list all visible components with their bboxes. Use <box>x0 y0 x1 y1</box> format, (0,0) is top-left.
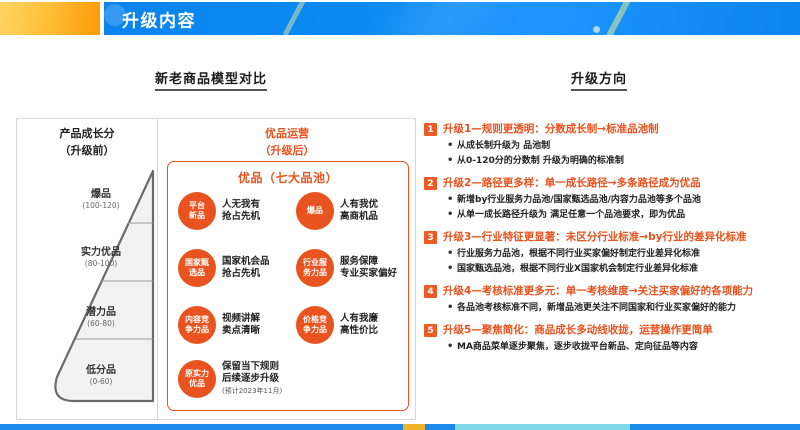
upgrade-item: 5 升级5—聚焦简化：商品成长多动线收拢，运营操作更简单 MA商品菜单逐步聚焦，… <box>424 323 790 355</box>
pyramid-tier-range: (80-100) <box>45 259 157 269</box>
pyramid-tier: 低分品 (0-60) <box>45 365 157 387</box>
pool-bubble-line1: 价格竞 <box>303 315 327 325</box>
section-title-right: 升级方向 <box>571 68 627 91</box>
pool-bubble: 原实力 优品 <box>178 360 216 398</box>
header-title: 升级内容 <box>122 6 196 31</box>
upgrade-item: 3 升级3—行业特征更显著：未区分行业标准→by行业的差异化标准 行业服务力品池… <box>424 230 790 277</box>
upgrade-bullet: MA商品菜单逐步聚焦，逐步收拢平台新品、定向征品等内容 <box>445 340 790 355</box>
pool-item-text-line1: 人有我优 <box>340 199 378 211</box>
header-stripe-decoration-1 <box>282 2 306 35</box>
pool-bubble: 内容竞 争力品 <box>178 306 216 344</box>
upgrade-number-badge: 2 <box>424 177 437 190</box>
comparison-diagram-card: 产品成长分 （升级前） 优品运营 （升级后） 爆品 (100-120) 实力优品… <box>16 118 416 420</box>
upgrade-item-header: 1 升级1—规则更透明：分数成长制→标准品池制 <box>424 122 790 136</box>
pool-item-text-line2: 高商机品 <box>340 211 378 223</box>
upgrade-title: 升级5—聚焦简化：商品成长多动线收拢，运营操作更简单 <box>443 323 713 337</box>
pool-bubble-line1: 内容竞 <box>185 315 209 325</box>
upgrade-bullet: 从单一成长路径升级为 满足任意一个品池要求，即为优品 <box>445 208 790 223</box>
pyramid-tier: 实力优品 (80-100) <box>45 247 157 269</box>
pyramid-tier-name: 爆品 <box>45 189 157 201</box>
upgrade-item-header: 3 升级3—行业特征更显著：未区分行业标准→by行业的差异化标准 <box>424 230 790 244</box>
pool-bubble-line2: 争力品 <box>303 325 327 335</box>
upgrade-bullet: 各品池考核标准不同，新增品池更关注不同国家和行业买家偏好的能力 <box>445 301 790 316</box>
pool-bubble-line2: 新品 <box>189 211 205 221</box>
pool-bubble-line2: 选品 <box>189 268 205 278</box>
pool-item-text: 人有我廉 高性价比 <box>340 313 378 337</box>
pool-item-text-note: (预计2023年11月) <box>222 385 282 397</box>
upgrade-bullet: 行业服务力品池，根据不同行业买家偏好制定行业差异化标准 <box>445 247 790 262</box>
upgrade-bullets: 从成长制升级为 品池制 从0-120分的分数制 升级为明确的标准制 <box>445 139 790 169</box>
upgrade-bullet: 国家甄选品池，根据不同行业X国家机会制定行业差异化标准 <box>445 262 790 277</box>
upgrade-bullets: 各品池考核标准不同，新增品池更关注不同国家和行业买家偏好的能力 <box>445 301 790 316</box>
pool-bubble-line2: 争力品 <box>185 325 209 335</box>
growth-score-pyramid: 爆品 (100-120) 实力优品 (80-100) 潜力品 (60-80) 低… <box>20 167 157 417</box>
pool-item[interactable]: 价格竞 争力品 人有我廉 高性价比 <box>296 306 378 344</box>
upgrade-item-header: 4 升级4—考核标准更多元：单一考核维度→关注买家偏好的各项能力 <box>424 284 790 298</box>
header-dot-decoration <box>593 26 600 33</box>
pool-bubble-line1: 国家甄 <box>185 258 209 268</box>
pool-bubble-line1: 原实力 <box>185 369 209 379</box>
pool-bubble-line2: 务力品 <box>303 268 327 278</box>
upgrade-directions-list: 1 升级1—规则更透明：分数成长制→标准品池制 从成长制升级为 品池制 从0-1… <box>424 122 790 362</box>
section-title-left: 新老商品模型对比 <box>155 68 267 91</box>
pool-item-text-line1: 视频讲解 <box>222 313 260 325</box>
pool-item[interactable]: 内容竞 争力品 视频讲解 卖点清晰 <box>178 306 260 344</box>
upgrade-title: 升级4—考核标准更多元：单一考核维度→关注买家偏好的各项能力 <box>443 284 753 298</box>
pool-item-text-line1: 服务保障 <box>340 256 397 268</box>
diagram-divider <box>157 119 158 421</box>
header-blue-block: 升级内容 <box>104 2 800 35</box>
upgrade-number-badge: 1 <box>424 123 437 136</box>
pool-item-text-line2: 抢占先机 <box>222 268 270 280</box>
pool-bubble: 平台 新品 <box>178 192 216 230</box>
upgrade-item: 4 升级4—考核标准更多元：单一考核维度→关注买家偏好的各项能力 各品池考核标准… <box>424 284 790 316</box>
pool-item-text-line1: 保留当下规则 <box>222 361 282 373</box>
product-pool-grid: 平台 新品 人无我有 抢占先机 爆品 人有我优 高商机品 <box>174 192 404 404</box>
pool-bubble: 行业服 务力品 <box>296 249 334 287</box>
pool-bubble-line2: 优品 <box>189 379 205 389</box>
pool-item[interactable]: 平台 新品 人无我有 抢占先机 <box>178 192 260 230</box>
pyramid-tier: 潜力品 (60-80) <box>45 307 157 329</box>
upgrade-title: 升级3—行业特征更显著：未区分行业标准→by行业的差异化标准 <box>443 230 746 244</box>
upgrade-number-badge: 5 <box>424 324 437 337</box>
upgrade-number-badge: 4 <box>424 285 437 298</box>
header-stripe-decoration-2 <box>606 2 633 35</box>
pyramid-tier-name: 低分品 <box>45 365 157 377</box>
header-orange-block <box>0 2 100 35</box>
upgrade-item: 1 升级1—规则更透明：分数成长制→标准品池制 从成长制升级为 品池制 从0-1… <box>424 122 790 169</box>
pyramid-tier-range: (100-120) <box>45 201 157 211</box>
upgrade-title: 升级1—规则更透明：分数成长制→标准品池制 <box>443 122 659 136</box>
pool-item[interactable]: 爆品 人有我优 高商机品 <box>296 192 378 230</box>
pool-item-text-line1: 人有我廉 <box>340 313 378 325</box>
diagram-right-heading: 优品运营 （升级后） <box>157 125 417 159</box>
pool-item[interactable]: 原实力 优品 保留当下规则 后续逐步升级 (预计2023年11月) <box>178 360 282 398</box>
footer-orange-segment <box>403 424 425 430</box>
pool-item-text: 国家机会品 抢占先机 <box>222 256 270 280</box>
pool-item-text-line2: 高性价比 <box>340 325 378 337</box>
pool-bubble: 价格竞 争力品 <box>296 306 334 344</box>
upgrade-title: 升级2—路径更多样：单一成长路径→多条路径成为优品 <box>443 176 701 190</box>
header-wedge-decoration <box>365 2 523 35</box>
pool-item-text: 服务保障 专业买家偏好 <box>340 256 397 280</box>
diagram-right-heading-line1: 优品运营 <box>157 125 417 142</box>
upgrade-item: 2 升级2—路径更多样：单一成长路径→多条路径成为优品 新增by行业服务力品池/… <box>424 176 790 223</box>
diagram-left-heading-line2: （升级前） <box>17 142 157 159</box>
pyramid-tier-name: 潜力品 <box>45 307 157 319</box>
upgrade-item-header: 5 升级5—聚焦简化：商品成长多动线收拢，运营操作更简单 <box>424 323 790 337</box>
pool-item-text: 保留当下规则 后续逐步升级 (预计2023年11月) <box>222 361 282 397</box>
pool-bubble-line1: 行业服 <box>303 258 327 268</box>
pool-item-text-line2: 专业买家偏好 <box>340 268 397 280</box>
upgrade-bullets: 新增by行业服务力品池/国家甄选品池/内容力品池等多个品池 从单一成长路径升级为… <box>445 193 790 223</box>
pool-item-text-line1: 人无我有 <box>222 199 260 211</box>
pool-item-text-line2: 抢占先机 <box>222 211 260 223</box>
upgrade-number-badge: 3 <box>424 231 437 244</box>
slide-root: 升级内容 新老商品模型对比 升级方向 产品成长分 （升级前） 优品运营 （升级后… <box>0 0 800 430</box>
upgrade-bullets: 行业服务力品池，根据不同行业买家偏好制定行业差异化标准 国家甄选品池，根据不同行… <box>445 247 790 277</box>
pyramid-tier-range: (0-60) <box>45 377 157 387</box>
footer-bar <box>0 424 800 430</box>
upgrade-bullet: 从0-120分的分数制 升级为明确的标准制 <box>445 154 790 169</box>
pool-item-text-line2: 卖点清晰 <box>222 325 260 337</box>
pool-item-text: 人有我优 高商机品 <box>340 199 378 223</box>
pool-item-text-line1: 国家机会品 <box>222 256 270 268</box>
upgrade-item-header: 2 升级2—路径更多样：单一成长路径→多条路径成为优品 <box>424 176 790 190</box>
pyramid-tier-name: 实力优品 <box>45 247 157 259</box>
upgrade-bullet: 新增by行业服务力品池/国家甄选品池/内容力品池等多个品池 <box>445 193 790 208</box>
product-pool-box: 优品（七大品池） 平台 新品 人无我有 抢占先机 爆品 <box>167 161 409 411</box>
pool-bubble: 爆品 <box>296 192 334 230</box>
header-banner: 升级内容 <box>0 0 800 38</box>
pyramid-tier: 爆品 (100-120) <box>45 189 157 211</box>
upgrade-bullet: 从成长制升级为 品池制 <box>445 139 790 154</box>
product-pool-title: 优品（七大品池） <box>168 169 408 186</box>
pool-item-text: 人无我有 抢占先机 <box>222 199 260 223</box>
pool-bubble-line1: 平台 <box>189 201 205 211</box>
diagram-right-heading-line2: （升级后） <box>157 142 417 159</box>
pool-item[interactable]: 国家甄 选品 国家机会品 抢占先机 <box>178 249 270 287</box>
pool-bubble: 国家甄 选品 <box>178 249 216 287</box>
diagram-left-heading-line1: 产品成长分 <box>17 125 157 142</box>
pool-item-text-line2: 后续逐步升级 <box>222 373 282 385</box>
upgrade-bullets: MA商品菜单逐步聚焦，逐步收拢平台新品、定向征品等内容 <box>445 340 790 355</box>
pyramid-tier-range: (60-80) <box>45 319 157 329</box>
diagram-left-heading: 产品成长分 （升级前） <box>17 125 157 159</box>
footer-teal-segment <box>455 424 630 430</box>
pool-item-text: 视频讲解 卖点清晰 <box>222 313 260 337</box>
pool-bubble-line1: 爆品 <box>307 206 323 216</box>
pool-item[interactable]: 行业服 务力品 服务保障 专业买家偏好 <box>296 249 397 287</box>
